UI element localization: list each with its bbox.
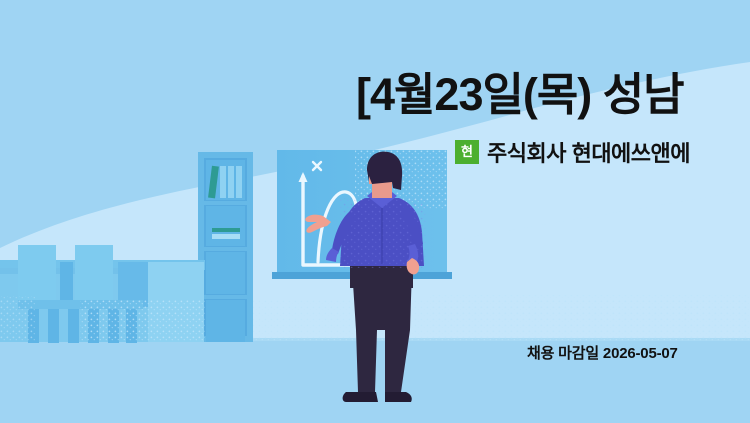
chair-speckle-left [0,296,36,342]
application-deadline: 채용 마감일 2026-05-07 [527,342,678,363]
page-title: [4월23일(목) 성남 [356,72,684,117]
company-name: 주식회사 현대에쓰앤에 [487,136,690,168]
book-flat-2 [212,234,240,239]
book-flat-1 [212,228,240,232]
job-posting-banner: [4월23일(목) 성남 현 주식회사 현대에쓰앤에 채용 마감일 2026-0… [0,0,750,423]
chair-speckle [80,300,205,342]
company-row: 현 주식회사 현대에쓰앤에 [455,136,690,168]
bookshelf-divider-1 [204,201,247,205]
right-wall-speckle [430,295,750,339]
book-c [236,166,242,198]
chair-leg-3 [68,305,79,343]
bookshelf [198,152,253,342]
company-badge-icon: 현 [455,140,479,164]
chair-leg-2 [48,305,59,343]
chair-back-2 [75,245,113,305]
book-b [228,166,234,198]
bookshelf-shelf-2 [206,206,245,246]
bookshelf-shelf-3 [206,252,245,294]
bookshelf-divider-2 [204,247,247,251]
man-neck [372,182,392,198]
book-a [220,166,226,198]
bookshelf-shelf-4 [206,300,245,342]
man-shoe-left [343,392,378,402]
bookshelf-divider-3 [204,295,247,299]
man-shoe-right [385,392,412,402]
